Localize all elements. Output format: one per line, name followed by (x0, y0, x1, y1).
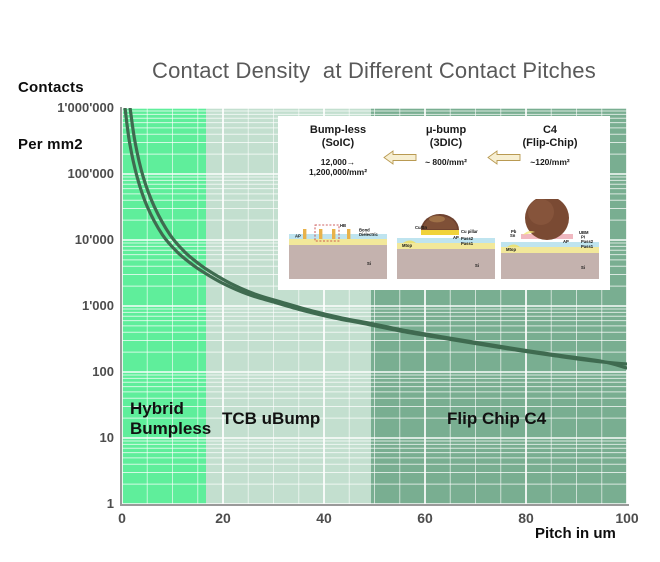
y-tick-label: 10 (100, 430, 114, 445)
y-tick-label: 10'000 (75, 232, 114, 247)
svg-text:HB: HB (340, 223, 346, 228)
inset-title-bumpless: Bump-less (SoIC) (285, 124, 391, 150)
inset-column-c4: C4 (Flip-Chip) ~120/mm² Pb Sn UBM PI AP … (497, 117, 603, 289)
y-tick-label: 100 (92, 364, 114, 379)
inset-column-bumpless: Bump-less (SoIC) 12,000→ 1,200,000/mm² A… (285, 117, 391, 289)
svg-text:Dielectric: Dielectric (359, 232, 379, 237)
svg-text:Sn: Sn (510, 233, 516, 238)
svg-text:Cu pillar: Cu pillar (461, 229, 478, 234)
y-tick-label: 1'000 (82, 298, 114, 313)
svg-text:Si: Si (581, 265, 585, 270)
x-tick-label: 60 (405, 510, 445, 526)
y-tick-labels: 1101001'00010'000100'0001'000'000 (0, 0, 114, 562)
y-tick-label: 1'000'000 (57, 100, 114, 115)
svg-text:Pass1: Pass1 (461, 241, 474, 246)
band-label-hybrid-bumpless: Hybrid Bumpless (130, 399, 211, 439)
x-axis-line (120, 504, 629, 506)
svg-text:Pass1: Pass1 (581, 244, 594, 249)
x-axis-title: Pitch in um (535, 524, 616, 543)
x-tick-label: 40 (304, 510, 344, 526)
y-tick-label: 100'000 (68, 166, 114, 181)
band-label-tcb-ubump: TCB uBump (222, 409, 320, 429)
svg-text:Cu/Sn: Cu/Sn (415, 225, 428, 230)
x-tick-label: 20 (203, 510, 243, 526)
inset-value-bumpless: 12,000→ 1,200,000/mm² (285, 157, 391, 177)
y-tick-label: 1 (107, 496, 114, 511)
cross-section-bumpless: AP HB Bond Dielectric Si (285, 199, 391, 283)
inset-title-c4: C4 (Flip-Chip) (497, 124, 603, 150)
y-axis-line (120, 107, 122, 505)
inset-value-ubump: ~ 800/mm² (393, 157, 499, 167)
cross-section-c4: Pb Sn UBM PI AP Pass2 Pass1 Mtop Si (497, 199, 603, 283)
inset-value-c4: ~120/mm² (497, 157, 603, 167)
band-label-flip-chip-c4: Flip Chip C4 (447, 409, 546, 429)
svg-text:AP: AP (453, 235, 459, 240)
svg-text:AP: AP (295, 234, 301, 239)
inset-column-ubump: μ-bump (3DIC) ~ 800/mm² Cu/Sn Cu pillar … (393, 117, 499, 289)
x-tick-label: 0 (102, 510, 142, 526)
chart-canvas: Contacts Per mm2 Contact Density at Diff… (0, 0, 660, 562)
page-title: Contact Density at Different Contact Pit… (152, 58, 632, 84)
svg-text:Mtop: Mtop (506, 247, 516, 252)
svg-text:AP: AP (563, 239, 569, 244)
inset-title-ubump: μ-bump (3DIC) (393, 124, 499, 150)
svg-text:Si: Si (475, 263, 479, 268)
inset-panel: Bump-less (SoIC) 12,000→ 1,200,000/mm² A… (278, 116, 610, 290)
cross-section-ubump: Cu/Sn Cu pillar AP Pass2 Pass1 Mtop Si (393, 199, 499, 283)
svg-text:Si: Si (367, 261, 371, 266)
svg-text:Mtop: Mtop (402, 243, 412, 248)
